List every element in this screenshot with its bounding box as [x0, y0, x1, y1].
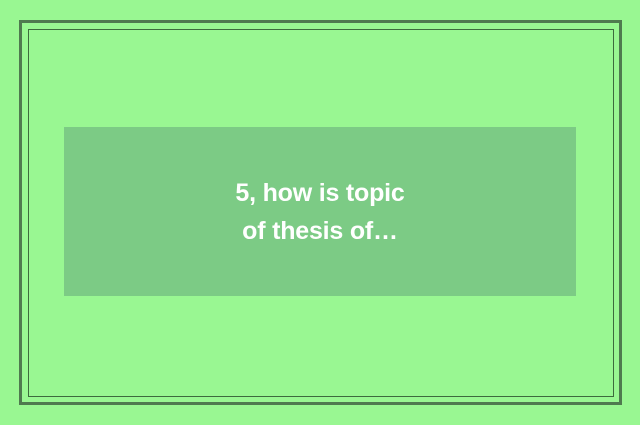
slide-canvas: 5, how is topic of thesis of… [0, 0, 640, 425]
content-panel: 5, how is topic of thesis of… [64, 127, 576, 296]
caption-line-2: of thesis of… [235, 212, 404, 250]
caption-line-1: 5, how is topic [235, 174, 404, 212]
caption-block: 5, how is topic of thesis of… [235, 174, 404, 250]
